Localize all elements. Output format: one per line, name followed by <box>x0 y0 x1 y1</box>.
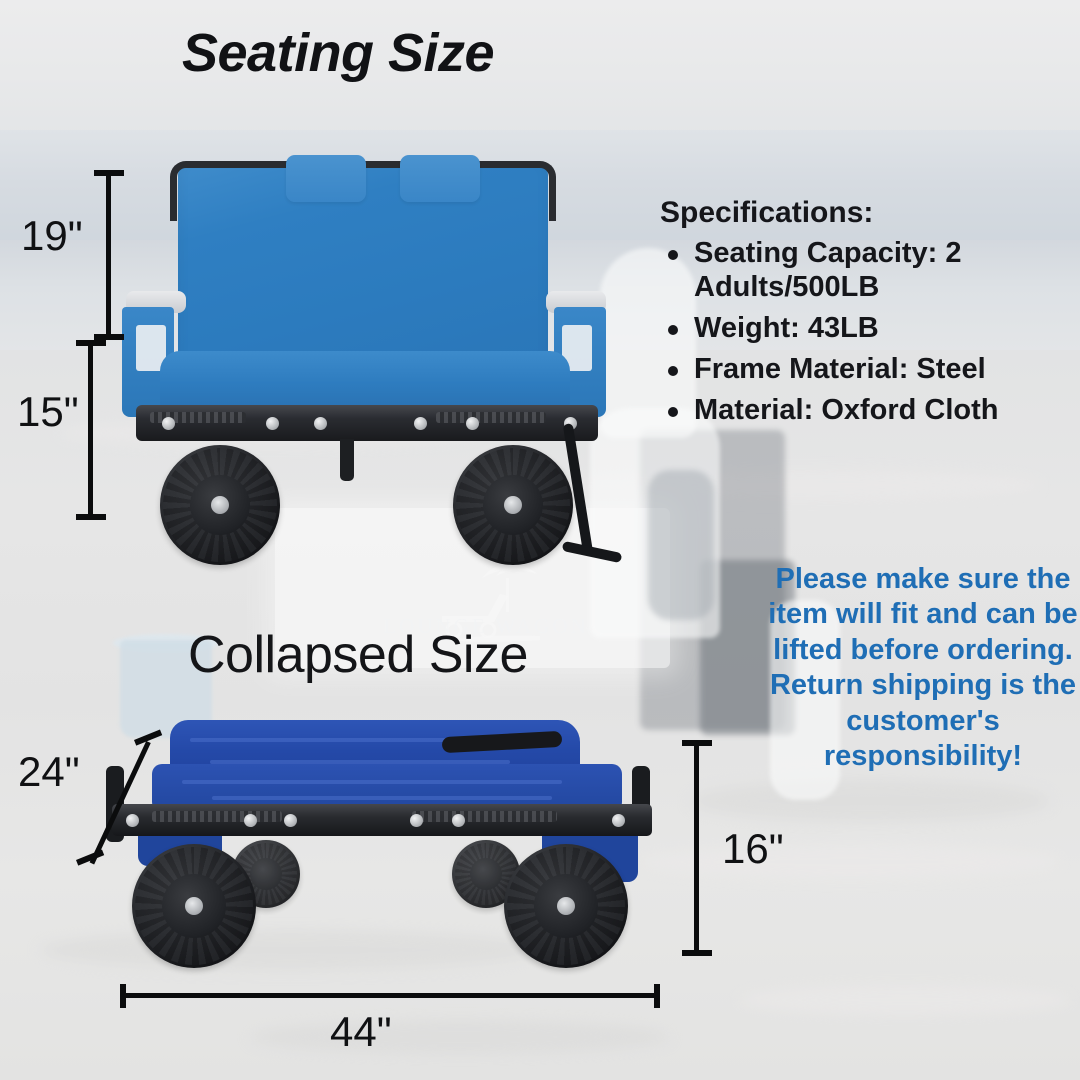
background-person <box>648 470 714 620</box>
frame-rivet <box>266 417 279 430</box>
dim-label-24: 24" <box>18 748 80 796</box>
spec-item-label: Weight: 43LB <box>694 312 879 344</box>
rail-tread <box>412 811 557 822</box>
tire-hub-cap <box>211 496 229 514</box>
fabric-crease <box>212 796 552 800</box>
spec-item-seating-capacity: Seating Capacity: 2 Adults/500LB <box>694 237 1080 305</box>
bullet-icon <box>668 325 678 335</box>
frame-rivet <box>284 814 297 827</box>
specifications-list: Seating Capacity: 2 Adults/500LB Weight:… <box>660 237 1080 428</box>
frame-rivet <box>314 417 327 430</box>
frame-rivet <box>126 814 139 827</box>
frame-rivet <box>162 417 175 430</box>
sand-texture <box>250 1020 670 1054</box>
frame-rivet <box>410 814 423 827</box>
spec-item-label: Frame Material: Steel <box>694 353 986 385</box>
wagon-seat-cushion <box>160 351 570 411</box>
dim-15-line <box>88 342 93 518</box>
dim-15-cap-bottom <box>76 514 106 520</box>
background-sky <box>0 0 1080 136</box>
seating-wagon-image <box>118 155 628 555</box>
dim-44-line <box>122 993 656 998</box>
page-title-collapsed-size: Collapsed Size <box>188 625 528 685</box>
collapsed-wagon-image <box>112 712 692 974</box>
sand-texture <box>690 780 1050 822</box>
collapsed-frame-rail <box>112 804 652 836</box>
collapsed-tire-front <box>132 844 256 968</box>
bullet-icon <box>668 250 678 260</box>
dim-16-line <box>694 742 699 954</box>
dim-44-cap-right <box>654 984 660 1008</box>
frame-rivet <box>466 417 479 430</box>
tire-hub <box>470 858 502 890</box>
dim-label-44: 44" <box>330 1008 392 1056</box>
wagon-tire-rear <box>453 445 573 565</box>
dim-label-16: 16" <box>722 825 784 873</box>
spec-item-label: Material: Oxford Cloth <box>694 394 999 426</box>
tire-hub-cap <box>185 897 203 915</box>
frame-rivet <box>612 814 625 827</box>
wagon-center-strap <box>340 439 354 481</box>
dim-label-19: 19" <box>21 212 83 260</box>
wagon-headrest-right <box>400 155 480 202</box>
collapsed-tire-rear <box>504 844 628 968</box>
wagon-frame-rail <box>136 405 598 441</box>
spec-item-material: Material: Oxford Cloth <box>694 394 1080 428</box>
frame-rivet <box>244 814 257 827</box>
fabric-crease <box>182 780 562 784</box>
page-title-seating-size: Seating Size <box>182 22 494 84</box>
frame-rivet <box>452 814 465 827</box>
sand-texture <box>640 845 1060 879</box>
specifications-block: Specifications: Seating Capacity: 2 Adul… <box>660 196 1080 428</box>
tire-hub-cap <box>504 496 522 514</box>
rail-tread <box>152 811 282 822</box>
sand-texture <box>740 985 1070 1015</box>
infographic-canvas: LOUNGE WAGON <box>0 0 1080 1080</box>
bullet-icon <box>668 407 678 417</box>
tire-hub-cap <box>557 897 575 915</box>
rail-tread <box>436 412 546 423</box>
spec-item-label: Seating Capacity: 2 Adults/500LB <box>694 237 962 303</box>
spec-item-weight: Weight: 43LB <box>694 312 1080 346</box>
dim-label-15: 15" <box>17 388 79 436</box>
wagon-tire-front <box>160 445 280 565</box>
dim-16-cap-bottom <box>682 950 712 956</box>
bullet-icon <box>668 366 678 376</box>
dim-19-line <box>106 172 111 340</box>
specifications-title: Specifications: <box>660 196 1080 230</box>
spec-item-frame-material: Frame Material: Steel <box>694 353 1080 387</box>
tire-hub <box>250 858 282 890</box>
wagon-headrest-left <box>286 155 366 202</box>
frame-rivet <box>414 417 427 430</box>
shipping-notice-text: Please make sure the item will fit and c… <box>768 562 1078 774</box>
